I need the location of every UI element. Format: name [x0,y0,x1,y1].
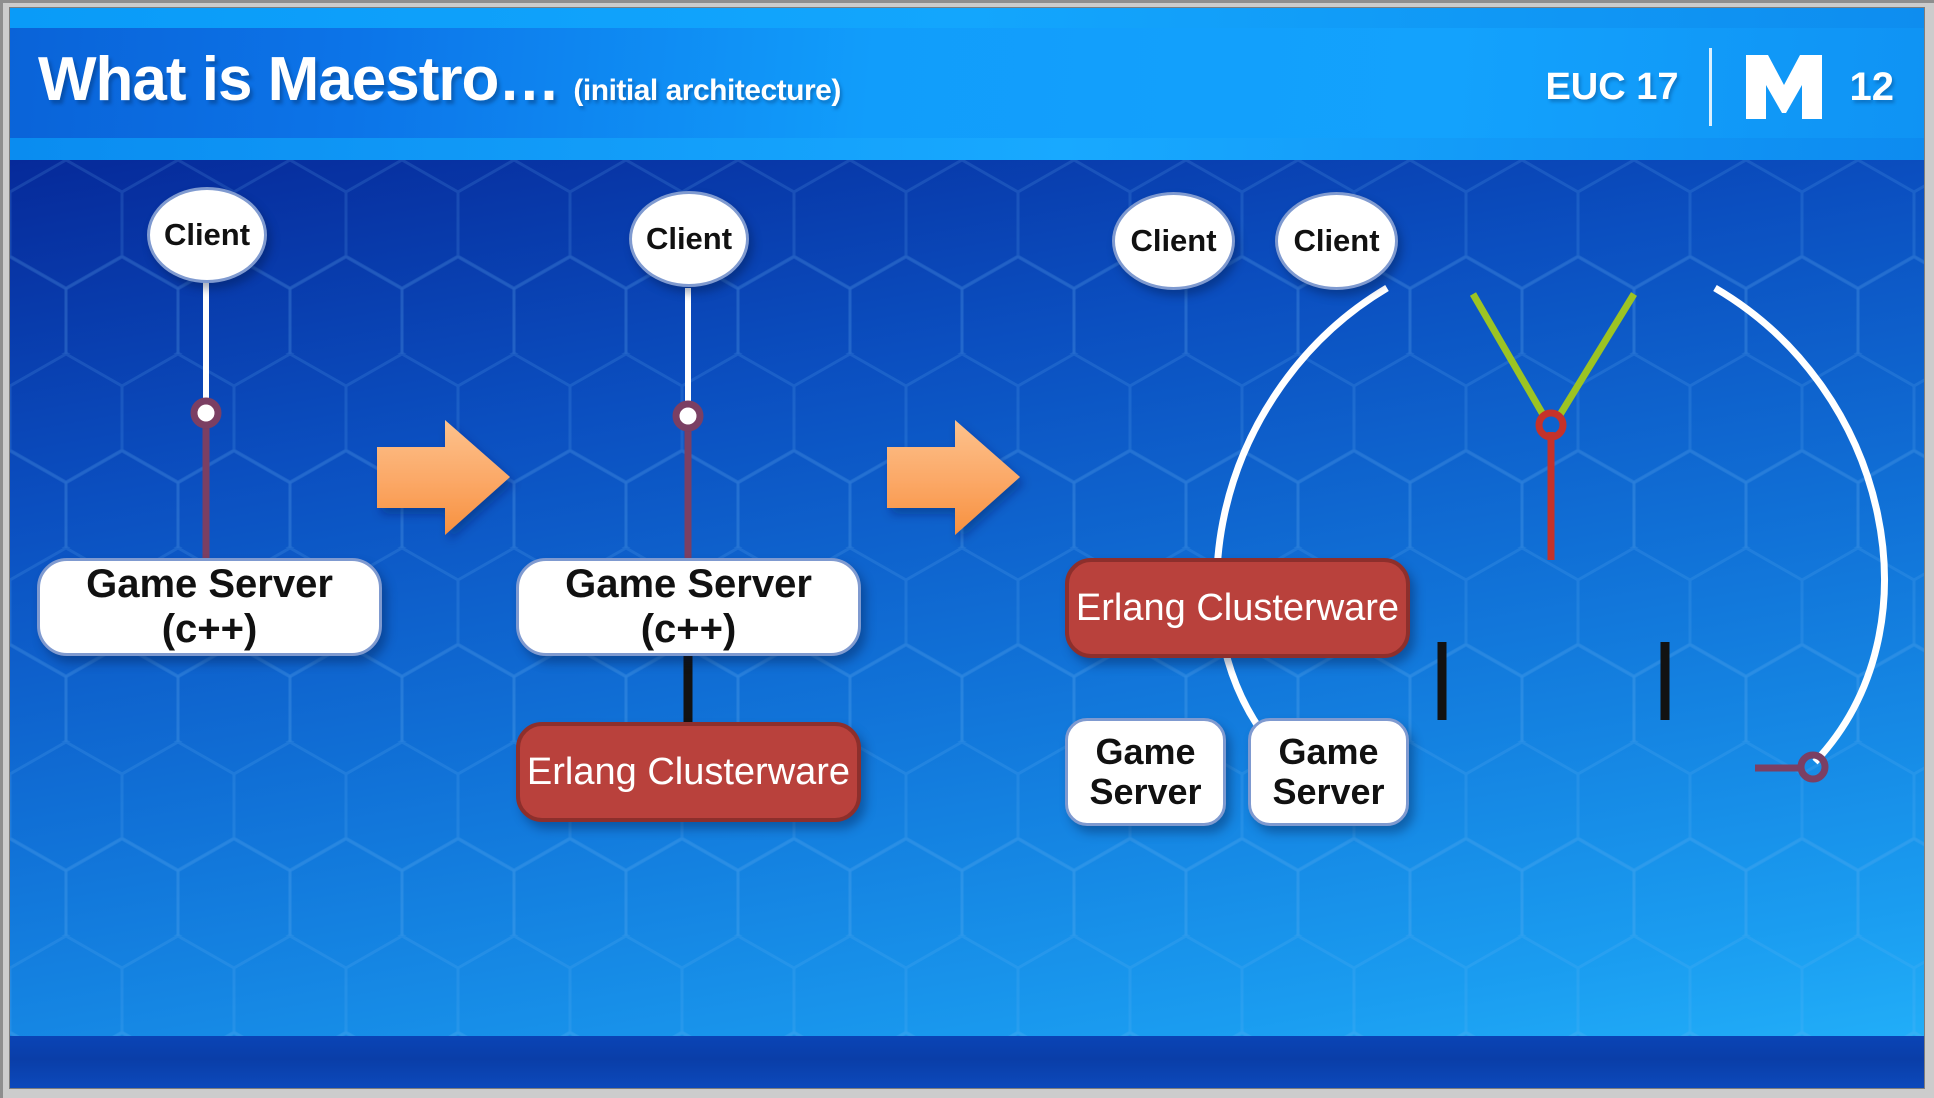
link-curve-right-client-to-server [1715,288,1884,762]
slide-header: What is Maestro… (initial architecture) … [10,8,1924,160]
page-title: What is Maestro… [38,44,559,115]
game-server-node-label-line2: Server [1272,772,1384,812]
client-node-stage3-left[interactable]: Client [1112,192,1235,290]
link-client-right-to-ring-stage3 [1558,294,1634,418]
client-node-stage3-right[interactable]: Client [1275,192,1398,290]
header-bottom-stripe [10,138,1924,160]
title-block: What is Maestro… (initial architecture) [38,44,841,115]
ring-connector-stage1 [194,401,218,425]
erlang-clusterware-node-stage2[interactable]: Erlang Clusterware [516,722,861,822]
game-server-node-stage3-left[interactable]: Game Server [1065,718,1226,826]
game-server-node-label: Game Server (c++) [519,562,858,652]
erlang-clusterware-node-stage3[interactable]: Erlang Clusterware [1065,558,1410,658]
progression-arrow-1 [377,420,510,535]
game-server-node-label-line2: Server [1089,772,1201,812]
header-top-stripe [10,8,1924,28]
erlang-clusterware-label: Erlang Clusterware [1076,587,1399,630]
progression-arrow-2 [887,420,1020,535]
ring-connector-right-server-stage3 [1801,755,1825,779]
game-server-node-stage3-right[interactable]: Game Server [1248,718,1409,826]
page-subtitle: (initial architecture) [573,74,840,108]
header-right-block: EUC 17 12 [1545,48,1894,126]
game-server-node-stage1[interactable]: Game Server (c++) [37,558,382,656]
conference-label: EUC 17 [1545,66,1678,109]
client-node-label: Client [1293,223,1379,259]
ring-connector-stage2 [676,404,700,428]
link-curve-left-client-to-server [1217,288,1387,760]
header-divider [1709,48,1712,126]
erlang-clusterware-label: Erlang Clusterware [527,751,850,794]
client-node-label: Client [1130,223,1216,259]
game-server-node-label: Game Server (c++) [40,562,379,652]
slide-canvas: What is Maestro… (initial architecture) … [10,8,1924,1088]
slide-body: Client Game Server (c++) Client Game Ser… [10,160,1924,1088]
slide-root: What is Maestro… (initial architecture) … [0,0,1934,1098]
page-number: 12 [1850,65,1895,110]
client-node-stage1[interactable]: Client [147,187,267,283]
link-client-left-to-ring-stage3 [1473,294,1545,418]
game-server-node-stage2[interactable]: Game Server (c++) [516,558,861,656]
game-server-node-label-line1: Game [1095,732,1195,772]
client-node-label: Client [164,217,250,253]
client-node-label: Client [646,221,732,257]
maestro-logo-icon [1742,51,1826,123]
game-server-node-label-line1: Game [1278,732,1378,772]
client-node-stage2[interactable]: Client [629,191,749,287]
